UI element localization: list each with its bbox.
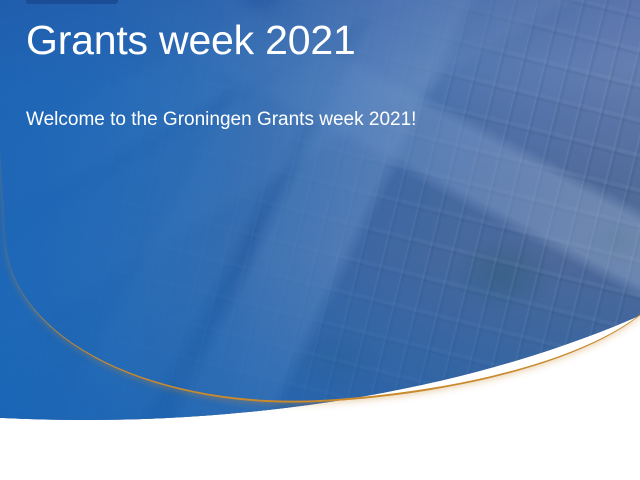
slide-content-area	[0, 426, 640, 480]
slide-title: Grants week 2021	[26, 18, 616, 64]
presentation-slide: Grants week 2021 Welcome to the Groninge…	[0, 0, 640, 480]
navy-tab-decoration	[26, 0, 118, 4]
hero-text-block: Grants week 2021 Welcome to the Groninge…	[26, 18, 616, 133]
slide-subtitle: Welcome to the Groningen Grants week 202…	[26, 64, 616, 133]
